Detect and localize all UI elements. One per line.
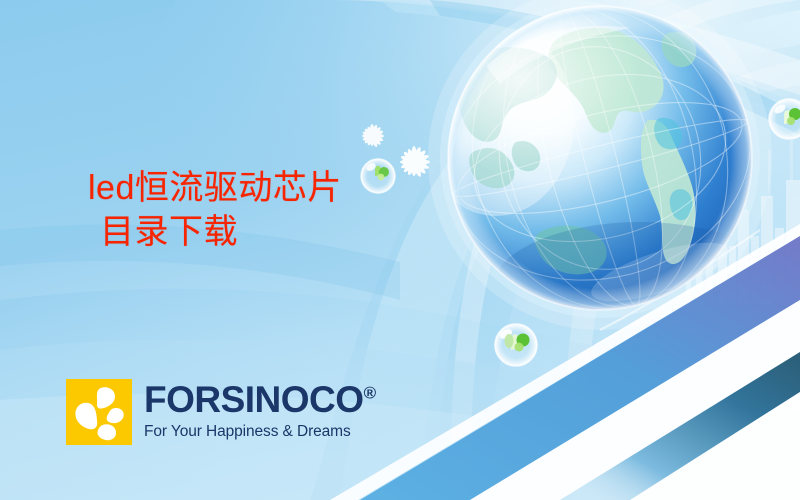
logo-wordmark: FORSINOCO® [144,381,376,418]
logo-tagline: For Your Happiness & Dreams [144,424,376,440]
logo-text-block: FORSINOCO® For Your Happiness & Dreams [144,379,376,440]
headline-line-2: 目录下载 [88,210,508,254]
headline-text: led恒流驱动芯片 目录下载 [88,166,508,254]
logo-wordmark-text: FORSINOCO [144,379,364,420]
headline-line-1: led恒流驱动芯片 [88,169,342,207]
registered-trademark-icon: ® [364,384,377,403]
company-logo[interactable]: FORSINOCO® For Your Happiness & Dreams [66,379,376,445]
promo-banner: led恒流驱动芯片 目录下载 FORSINOCO® For Your Happi… [0,0,800,500]
bubble-green-sprout-right [769,99,800,139]
logo-pinwheel-icon [66,379,132,445]
bubble-green-sprout-center [495,324,537,366]
white-flower-small [362,124,384,148]
